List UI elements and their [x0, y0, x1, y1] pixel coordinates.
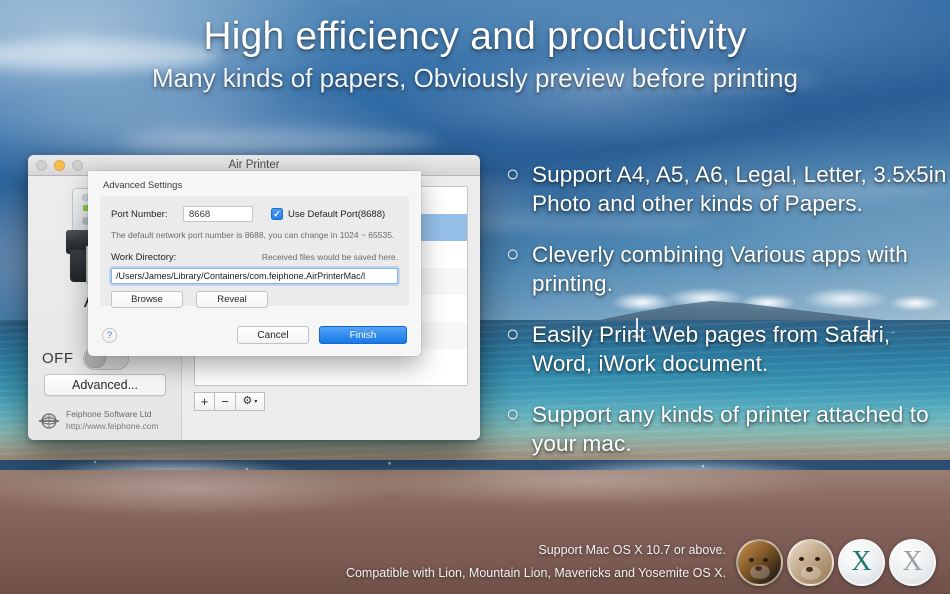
port-hint-text: The default network port number is 8688,…: [111, 230, 398, 240]
bullet-circle-icon: ○: [506, 240, 532, 298]
feiphone-logo-icon: [38, 412, 60, 430]
list-item: ○ Support any kinds of printer attached …: [506, 400, 950, 458]
page-subtitle: Many kinds of papers, Obviously preview …: [0, 63, 950, 94]
cancel-button[interactable]: Cancel: [237, 326, 309, 344]
yosemite-icon: X: [889, 539, 936, 586]
port-row: Port Number: 8668 ✓ Use Default Port(868…: [111, 206, 398, 222]
list-item-label: Cleverly combining Various apps with pri…: [532, 240, 950, 298]
sheet-title: Advanced Settings: [103, 180, 421, 191]
use-default-port-checkbox[interactable]: ✓: [271, 208, 283, 220]
work-directory-label: Work Directory:: [111, 252, 176, 263]
port-number-input[interactable]: 8668: [183, 206, 253, 222]
work-directory-hint: Received files would be saved here.: [262, 252, 398, 262]
bullet-circle-icon: ○: [506, 160, 532, 218]
mavericks-icon: X: [838, 539, 885, 586]
use-default-port-label: Use Default Port(8688): [288, 209, 385, 220]
finish-button[interactable]: Finish: [319, 326, 407, 344]
mavericks-x-glyph: X: [840, 541, 883, 584]
brand-block: Feiphone Software Ltd http://www.feiphon…: [38, 409, 159, 432]
browse-button[interactable]: Browse: [111, 291, 183, 308]
yosemite-x-glyph: X: [891, 541, 934, 584]
port-number-label: Port Number:: [111, 209, 183, 220]
company-name: Feiphone Software Ltd: [66, 409, 159, 420]
bullet-circle-icon: ○: [506, 400, 532, 458]
list-item-label: Easily Print Web pages from Safari, Word…: [532, 320, 950, 378]
feature-list: ○ Support A4, A5, A6, Legal, Letter, 3.5…: [506, 160, 950, 480]
advanced-settings-sheet[interactable]: Advanced Settings Port Number: 8668 ✓ Us…: [88, 171, 421, 356]
directory-actions: Browse Reveal: [111, 291, 398, 308]
cloud-wisp: [120, 130, 440, 152]
gear-icon: ⚙: [243, 396, 253, 407]
window-title: Air Printer: [28, 159, 480, 171]
list-item-label: Support any kinds of printer attached to…: [532, 400, 950, 458]
support-line: Support Mac OS X 10.7 or above.: [346, 539, 726, 563]
use-default-port-row[interactable]: ✓ Use Default Port(8688): [271, 208, 385, 220]
reveal-button[interactable]: Reveal: [196, 291, 268, 308]
sheet-footer: ? Cancel Finish: [88, 326, 421, 344]
add-button[interactable]: +: [194, 392, 215, 411]
work-directory-row: Work Directory: Received files would be …: [111, 252, 398, 263]
hero-heading-block: High efficiency and productivity Many ki…: [0, 16, 950, 94]
list-item: ○ Cleverly combining Various apps with p…: [506, 240, 950, 298]
list-item: ○ Support A4, A5, A6, Legal, Letter, 3.5…: [506, 160, 950, 218]
table-toolbar: + − ⚙ ▾: [194, 392, 468, 411]
toggle-state-label: OFF: [42, 350, 74, 367]
settings-group: Port Number: 8668 ✓ Use Default Port(868…: [100, 196, 409, 306]
compatible-line: Compatible with Lion, Mountain Lion, Mav…: [346, 562, 726, 586]
advanced-button[interactable]: Advanced...: [44, 374, 166, 396]
lion-icon: [736, 539, 783, 586]
list-item-label: Support A4, A5, A6, Legal, Letter, 3.5x5…: [532, 160, 950, 218]
list-item: ○ Easily Print Web pages from Safari, Wo…: [506, 320, 950, 378]
chevron-down-icon: ▾: [254, 399, 257, 405]
page-title: High efficiency and productivity: [0, 16, 950, 58]
bullet-circle-icon: ○: [506, 320, 532, 378]
check-icon: ✓: [273, 210, 281, 219]
mountain-lion-icon: [787, 539, 834, 586]
gear-menu-button[interactable]: ⚙ ▾: [236, 392, 265, 411]
help-button[interactable]: ?: [102, 328, 117, 343]
remove-button[interactable]: −: [215, 392, 236, 411]
os-version-icons: X X: [736, 539, 936, 586]
work-directory-input[interactable]: /Users/James/Library/Containers/com.feip…: [111, 268, 398, 284]
compatibility-footer: Support Mac OS X 10.7 or above. Compatib…: [346, 539, 936, 587]
company-url[interactable]: http://www.feiphone.com: [66, 421, 159, 432]
compatibility-text: Support Mac OS X 10.7 or above. Compatib…: [346, 539, 726, 587]
